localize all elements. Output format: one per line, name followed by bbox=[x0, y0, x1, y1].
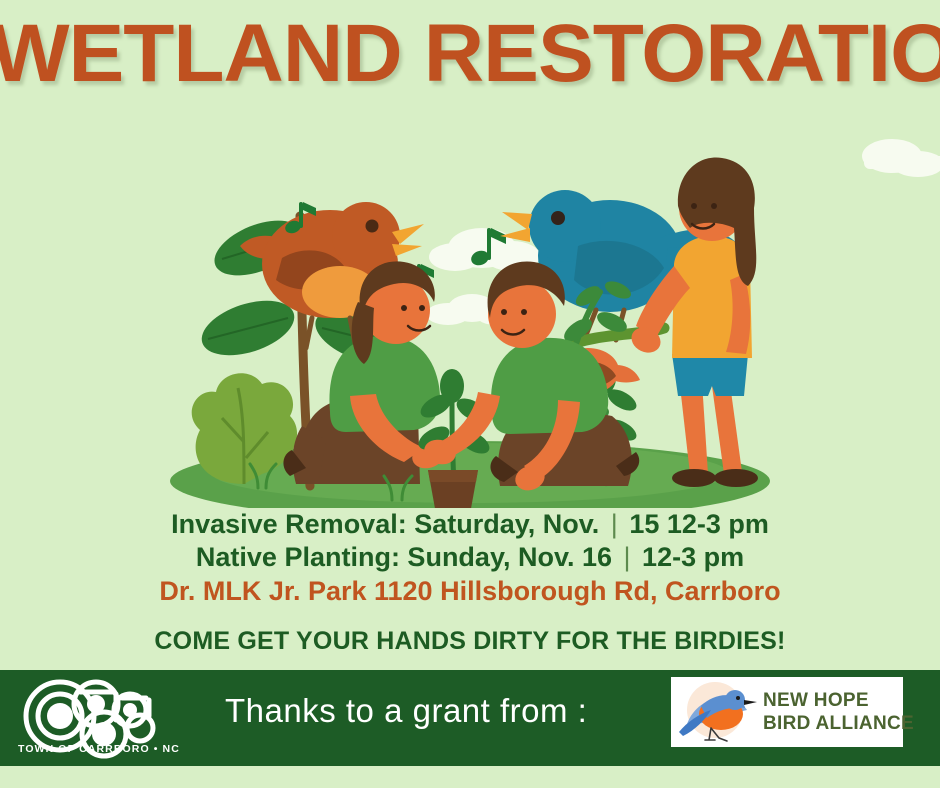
bluebird-icon bbox=[671, 678, 763, 746]
sponsor-name-line-2: BIRD ALLIANCE bbox=[763, 712, 914, 735]
person-standing-girl bbox=[627, 157, 758, 487]
schedule-line-1: Invasive Removal: Saturday, Nov. | 15 12… bbox=[0, 508, 940, 541]
thanks-text: Thanks to a grant from : bbox=[225, 692, 655, 730]
carrboro-logo-caption: TOWN OF CARRBORO • NC bbox=[18, 743, 178, 755]
separator: | bbox=[620, 542, 635, 572]
schedule-line-2-label: Native Planting: Sunday, Nov. 16 bbox=[196, 542, 612, 572]
poster-canvas: WETLAND RESTORATION bbox=[0, 0, 940, 788]
schedule-line-1-detail: 15 12-3 pm bbox=[629, 509, 769, 539]
tagline: COME GET YOUR HANDS DIRTY FOR THE BIRDIE… bbox=[0, 626, 940, 656]
sponsor-name: NEW HOPE BIRD ALLIANCE bbox=[763, 689, 914, 735]
schedule-line-2: Native Planting: Sunday, Nov. 16 | 12-3 … bbox=[0, 541, 940, 574]
sponsor-logo-card: NEW HOPE BIRD ALLIANCE bbox=[671, 677, 903, 747]
schedule-line-1-label: Invasive Removal: Saturday, Nov. bbox=[171, 509, 599, 539]
page-title: WETLAND RESTORATION bbox=[0, 12, 940, 96]
sponsor-name-line-1: NEW HOPE bbox=[763, 689, 914, 712]
cloud-icon bbox=[862, 139, 940, 177]
event-address: Dr. MLK Jr. Park 1120 Hillsborough Rd, C… bbox=[0, 574, 940, 608]
illustration bbox=[0, 96, 940, 508]
event-details: Invasive Removal: Saturday, Nov. | 15 12… bbox=[0, 508, 940, 608]
schedule-line-2-detail: 12-3 pm bbox=[642, 542, 744, 572]
separator: | bbox=[607, 509, 622, 539]
